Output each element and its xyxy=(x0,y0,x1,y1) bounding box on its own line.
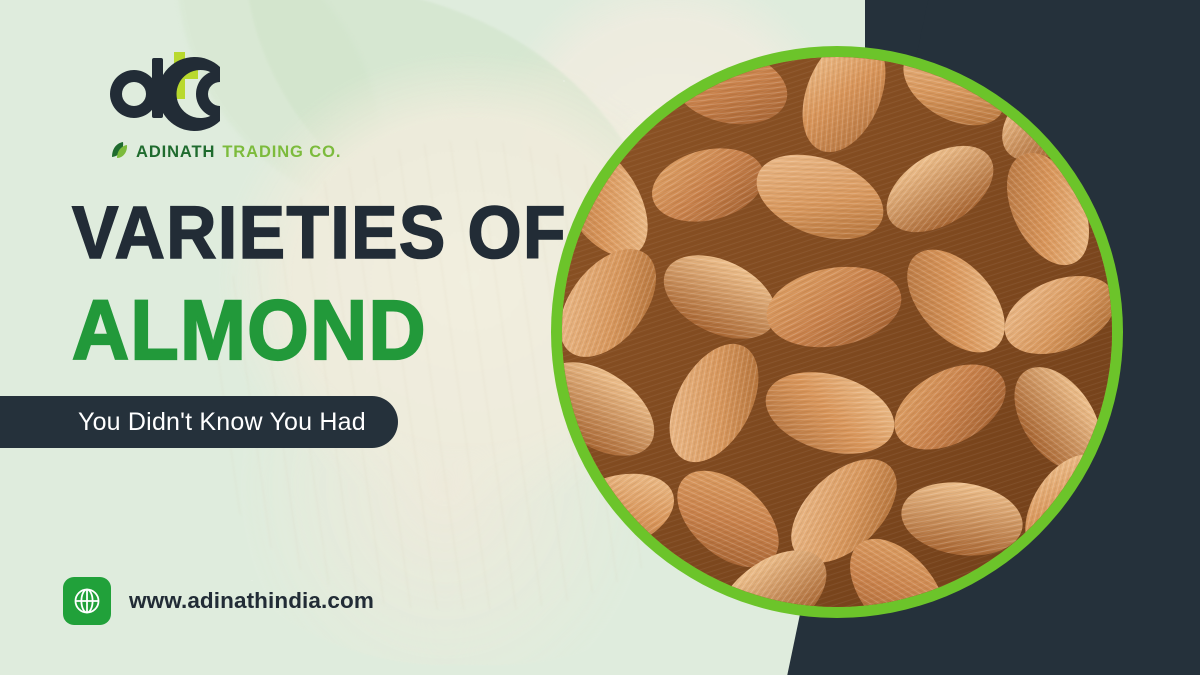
globe-icon xyxy=(63,577,111,625)
headline-line-2: ALMOND xyxy=(72,288,427,372)
atc-monogram-icon xyxy=(100,48,350,138)
hero-almond-photo xyxy=(562,57,1112,607)
footer-website[interactable]: www.adinathindia.com xyxy=(63,577,374,625)
brand-logo[interactable]: ADINATH TRADING CO. xyxy=(100,48,350,165)
logo-name-secondary: TRADING CO. xyxy=(222,143,341,162)
headline-line-1: VARIETIES OF xyxy=(72,196,567,270)
hero-image-ring xyxy=(551,46,1123,618)
website-url-text: www.adinathindia.com xyxy=(129,588,374,614)
subtitle-text: You Didn't Know You Had xyxy=(78,408,366,437)
leaf-icon xyxy=(109,140,129,165)
logo-name-primary: ADINATH xyxy=(136,143,215,162)
poster-canvas: ADINATH TRADING CO. VARIETIES OF ALMOND … xyxy=(0,0,1200,675)
subtitle-pill: You Didn't Know You Had xyxy=(0,396,398,448)
logo-wordmark: ADINATH TRADING CO. xyxy=(109,140,350,165)
